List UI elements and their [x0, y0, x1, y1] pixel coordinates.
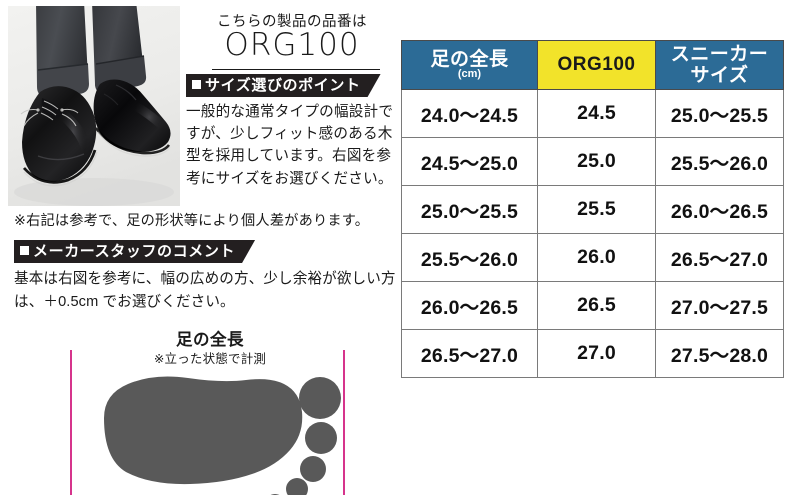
table-cell-foot-length: 24.5〜25.0	[402, 138, 538, 186]
section-heading-size-point: サイズ選びのポイント	[186, 74, 381, 97]
table-header-foot-length: 足の全長 (cm)	[402, 41, 538, 90]
table-cell-foot-length: 26.0〜26.5	[402, 282, 538, 330]
shoe-photo-illustration	[8, 6, 180, 206]
table-row: 25.5〜26.026.026.5〜27.0	[402, 234, 784, 282]
table-cell-sneaker-size: 26.0〜26.5	[656, 186, 784, 234]
table-cell-foot-length: 24.0〜24.5	[402, 90, 538, 138]
table-cell-sneaker-size: 25.5〜26.0	[656, 138, 784, 186]
square-bullet-icon	[192, 80, 201, 89]
section-heading-staff-comment-label: メーカースタッフのコメント	[33, 243, 235, 260]
table-cell-sneaker-size: 26.5〜27.0	[656, 234, 784, 282]
table-cell-sneaker-size: 27.0〜27.5	[656, 282, 784, 330]
product-code-underline	[212, 69, 380, 70]
table-row: 26.0〜26.526.527.0〜27.5	[402, 282, 784, 330]
disclaimer-note: ※右記は参考で、足の形状等により個人差があります。	[14, 210, 369, 230]
table-cell-product-size: 25.0	[538, 138, 656, 186]
table-header-sneaker-size-label: スニーカーサイズ	[671, 44, 769, 86]
table-cell-product-size: 26.5	[538, 282, 656, 330]
section-heading-size-point-label: サイズ選びのポイント	[205, 77, 361, 94]
table-cell-foot-length: 25.5〜26.0	[402, 234, 538, 282]
table-cell-sneaker-size: 27.5〜28.0	[656, 330, 784, 378]
table-body: 24.0〜24.524.525.0〜25.524.5〜25.025.025.5〜…	[402, 90, 784, 378]
table-header-foot-length-unit: (cm)	[403, 68, 536, 80]
table-cell-foot-length: 26.5〜27.0	[402, 330, 538, 378]
foot-length-diagram: 足の全長 ※立った状態で計測	[70, 326, 350, 495]
table-cell-product-size: 26.0	[538, 234, 656, 282]
table-cell-product-size: 24.5	[538, 90, 656, 138]
table-header-foot-length-label: 足の全長	[430, 49, 508, 70]
section-heading-staff-comment: メーカースタッフのコメント	[14, 240, 255, 263]
table-cell-product-size: 27.0	[538, 330, 656, 378]
measure-label: 足の全長	[70, 326, 350, 350]
size-point-body-text: 一般的な通常タイプの幅設計ですが、少しフィット感のある木型を採用しています。右図…	[186, 101, 402, 190]
table-cell-foot-length: 25.0〜25.5	[402, 186, 538, 234]
product-code: ORG100	[186, 28, 398, 64]
table-row: 24.0〜24.524.525.0〜25.5	[402, 90, 784, 138]
table-header-row: 足の全長 (cm) ORG100 スニーカーサイズ	[402, 41, 784, 90]
staff-comment-body-text: 基本は右図を参考に、幅の広めの方、少し余裕が欲しい方は、＋0.5cm でお選びく…	[14, 268, 396, 314]
size-conversion-table: 足の全長 (cm) ORG100 スニーカーサイズ 24.0〜24.524.52…	[401, 40, 784, 378]
table-header-sneaker-size: スニーカーサイズ	[656, 41, 784, 90]
table-cell-product-size: 25.5	[538, 186, 656, 234]
table-header-product: ORG100	[538, 41, 656, 90]
table-row: 25.0〜25.525.526.0〜26.5	[402, 186, 784, 234]
measure-note: ※立った状態で計測	[70, 348, 350, 367]
measure-label-text: 足の全長	[170, 331, 250, 349]
shoe-photo	[8, 6, 180, 206]
table-row: 26.5〜27.027.027.5〜28.0	[402, 330, 784, 378]
table-row: 24.5〜25.025.025.5〜26.0	[402, 138, 784, 186]
square-bullet-icon	[20, 246, 29, 255]
table-cell-sneaker-size: 25.0〜25.5	[656, 90, 784, 138]
footprint-illustration	[70, 356, 350, 495]
